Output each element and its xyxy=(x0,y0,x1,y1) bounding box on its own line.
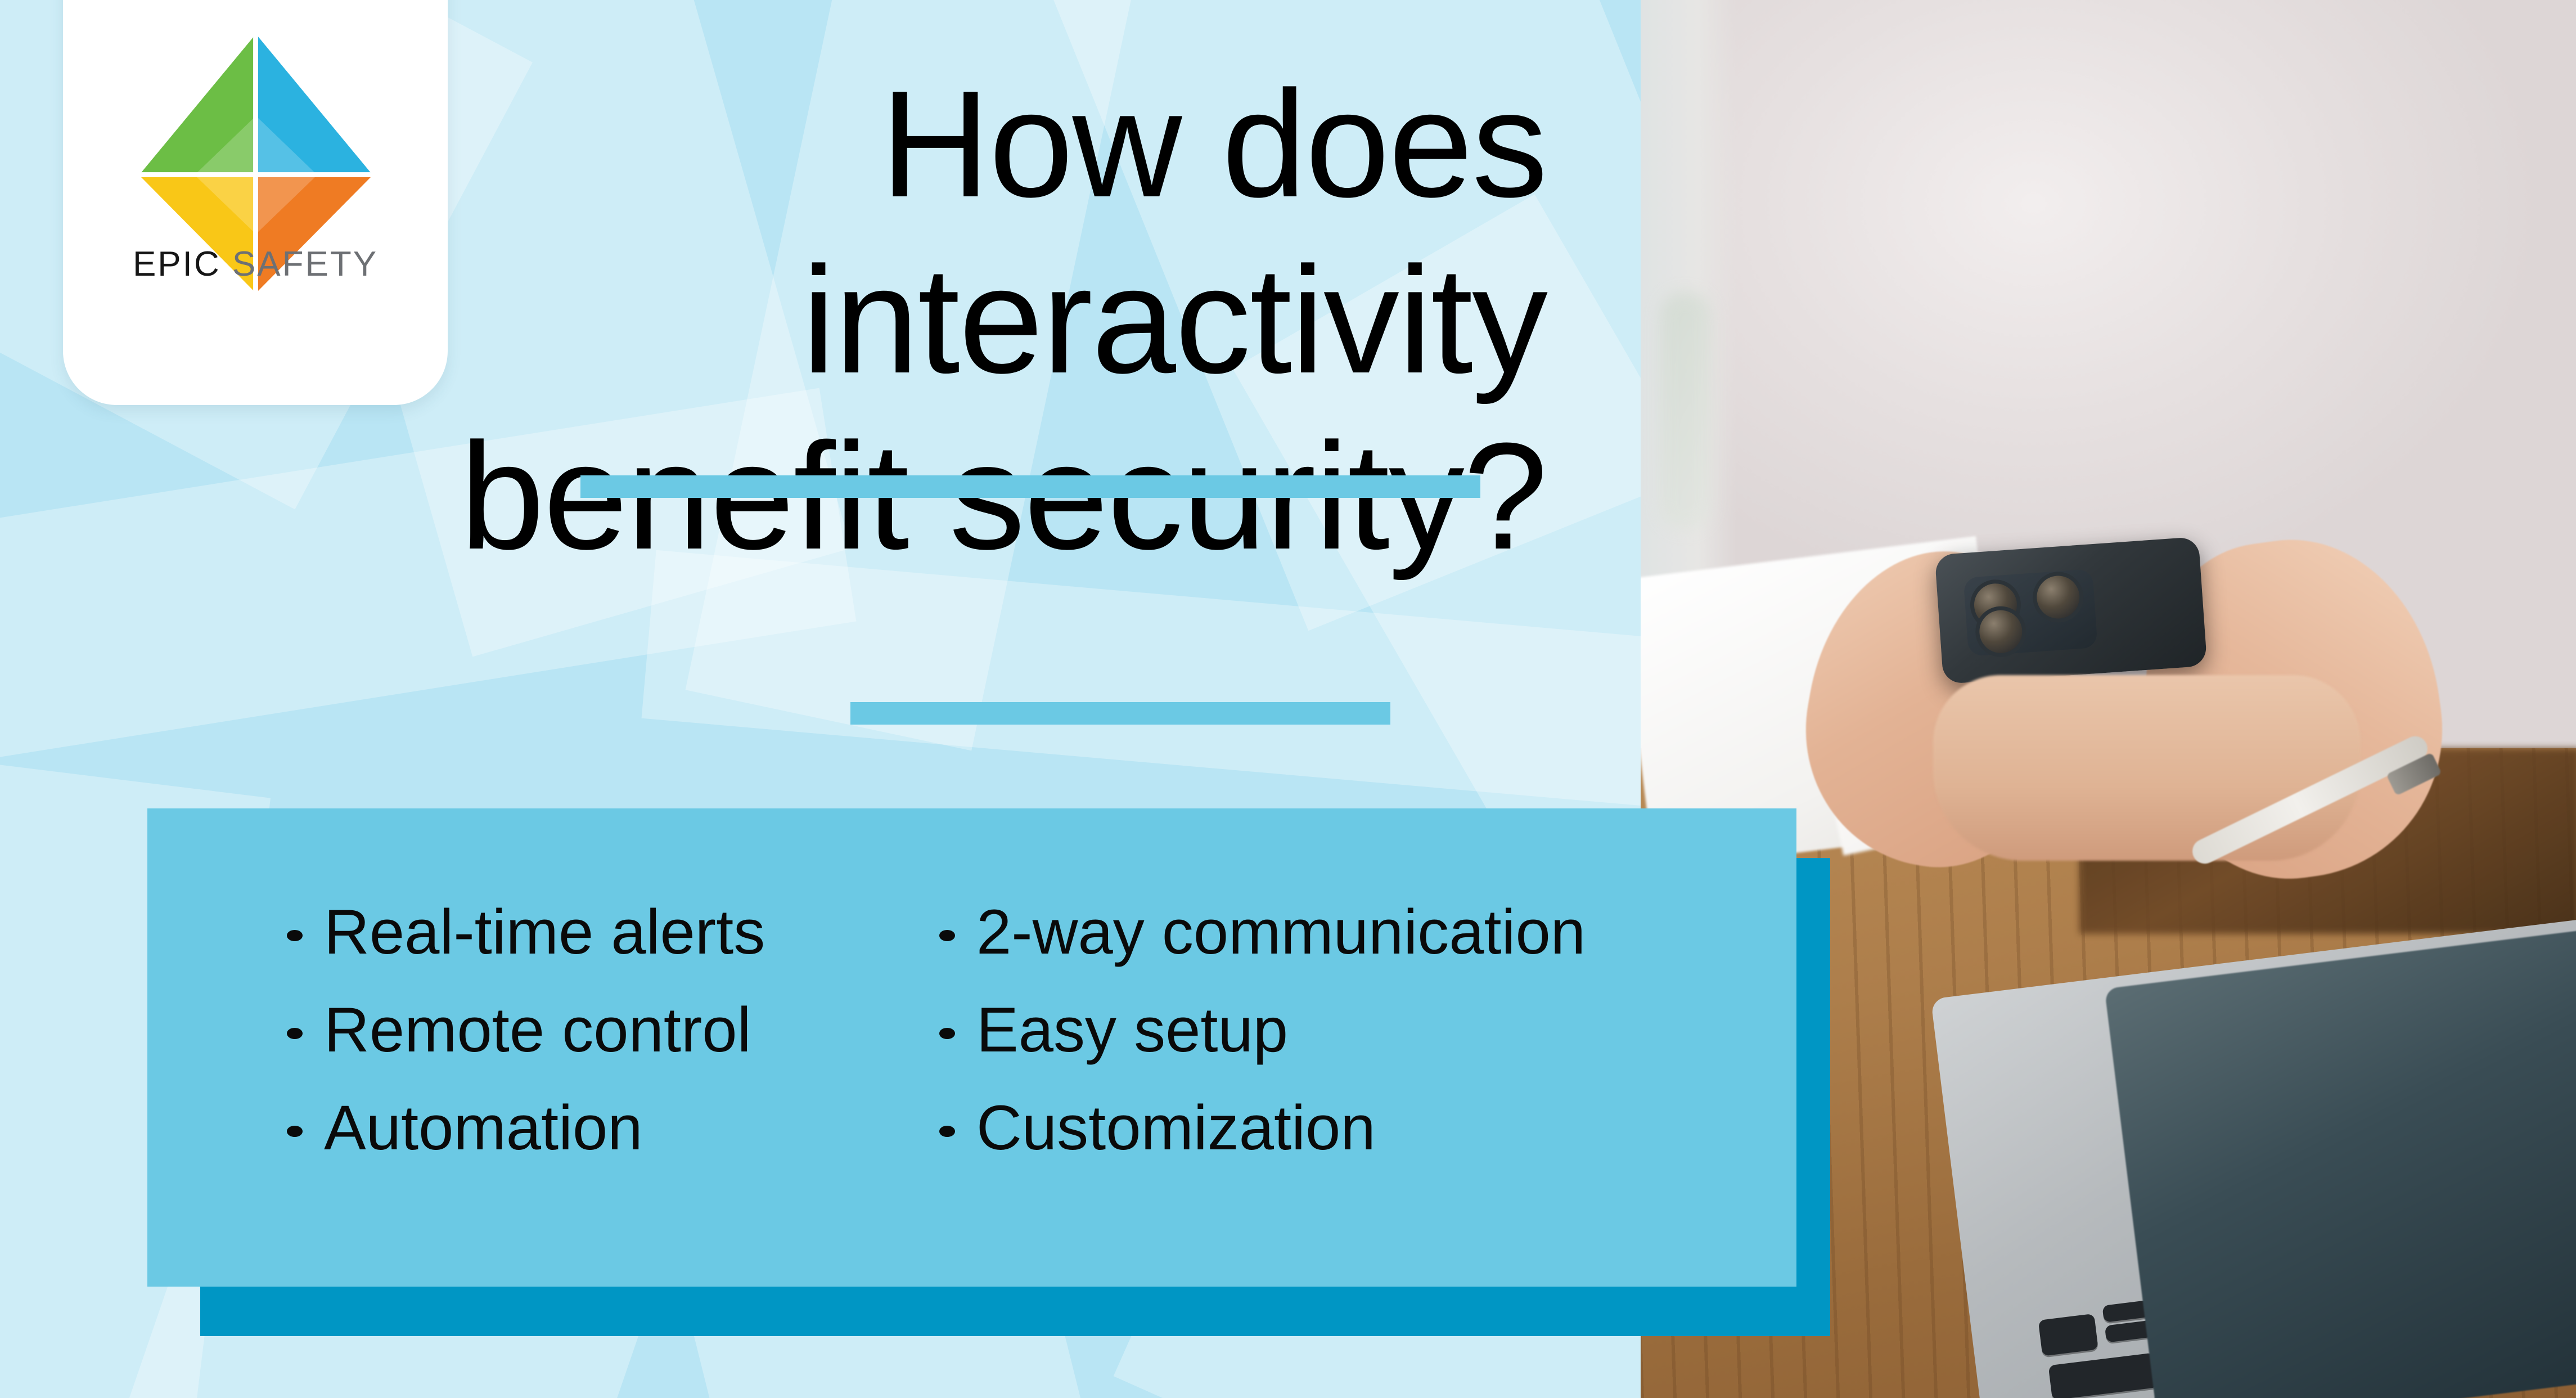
photo-shirt-fold xyxy=(1660,293,1711,529)
list-item: Remote control xyxy=(287,999,939,1096)
list-item: Easy setup xyxy=(939,999,1796,1096)
page-title: How does interactivity benefit security? xyxy=(0,56,1620,585)
photo-laptop-key xyxy=(2038,1314,2098,1356)
bullet-dot-icon xyxy=(287,1028,303,1039)
list-item: 2-way communication xyxy=(939,901,1796,999)
list-item: Real-time alerts xyxy=(287,901,939,999)
photo-phone-camera-module xyxy=(1963,569,2098,657)
headline-line-1: How does xyxy=(0,56,1620,232)
bullet-dot-icon xyxy=(939,1028,955,1039)
list-item: Customization xyxy=(939,1096,1796,1194)
list-item-label: Automation xyxy=(324,1096,643,1159)
list-item: Automation xyxy=(287,1096,939,1194)
bullet-dot-icon xyxy=(939,1126,955,1137)
list-item-label: Customization xyxy=(976,1096,1376,1159)
list-item-label: Remote control xyxy=(324,999,751,1062)
benefits-list: Real-time alerts 2-way communication Rem… xyxy=(147,808,1796,1287)
photo-fingers xyxy=(1933,675,2361,861)
headline-underline-1 xyxy=(580,475,1480,498)
headline-underline-2 xyxy=(850,702,1390,725)
list-item-label: Easy setup xyxy=(976,999,1288,1062)
photo-laptop-key-shift xyxy=(2048,1352,2159,1398)
photo-camera-lens xyxy=(2035,574,2081,620)
list-item-label: 2-way communication xyxy=(976,901,1586,964)
headline-line-2: interactivity xyxy=(0,232,1620,408)
photo-laptop-screen xyxy=(2105,927,2576,1398)
bullet-dot-icon xyxy=(287,1126,303,1137)
slide-canvas: EPIC SAFETY How does interactivity benef… xyxy=(0,0,2576,1398)
list-item-label: Real-time alerts xyxy=(324,901,765,964)
bullets-card: Real-time alerts 2-way communication Rem… xyxy=(147,808,1796,1287)
photo-smartphone xyxy=(1935,537,2208,684)
bullet-dot-icon xyxy=(287,930,303,941)
bullet-dot-icon xyxy=(939,930,955,941)
